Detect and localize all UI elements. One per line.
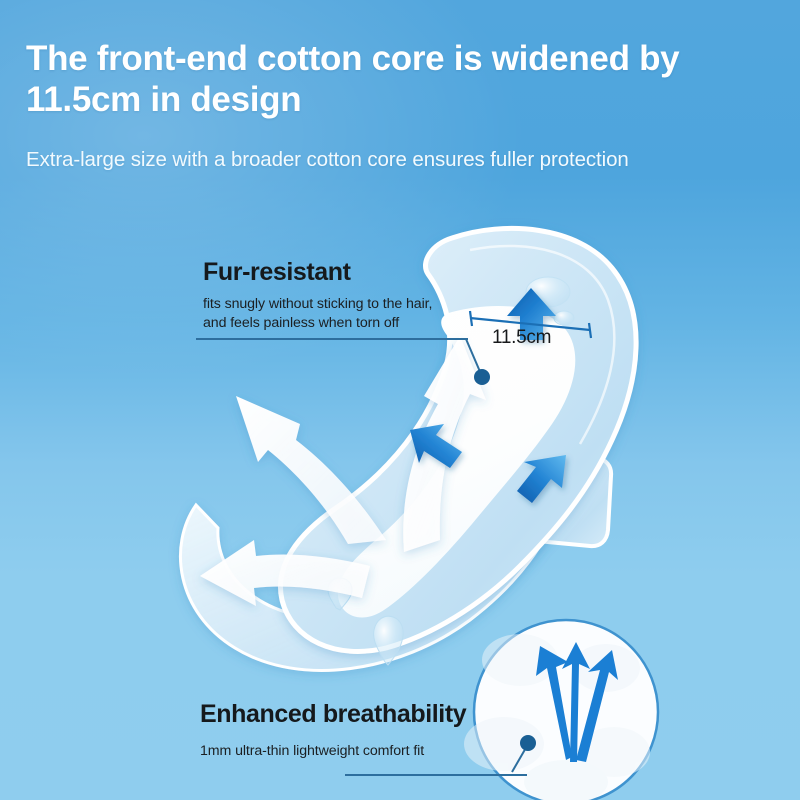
callout-description-enhanced-breathability: 1mm ultra-thin lightweight comfort fit bbox=[200, 742, 530, 761]
measurement-label: 11.5cm bbox=[492, 327, 551, 349]
page-subtitle: Extra-large size with a broader cotton c… bbox=[26, 148, 786, 172]
page-title: The front-end cotton core is widened by … bbox=[26, 38, 776, 121]
callout-description-fur-resistant: fits snugly without sticking to the hair… bbox=[203, 295, 448, 334]
infographic-canvas: The front-end cotton core is widened by … bbox=[0, 0, 800, 800]
arrow-up-left-icon bbox=[236, 396, 386, 544]
leader-line-fur-resistant bbox=[196, 338, 468, 340]
leader-line-enhanced-breathability bbox=[345, 774, 527, 776]
breathability-circle bbox=[464, 620, 658, 800]
callout-title-fur-resistant: Fur-resistant bbox=[203, 258, 351, 287]
callout-title-enhanced-breathability: Enhanced breathability bbox=[200, 700, 466, 729]
